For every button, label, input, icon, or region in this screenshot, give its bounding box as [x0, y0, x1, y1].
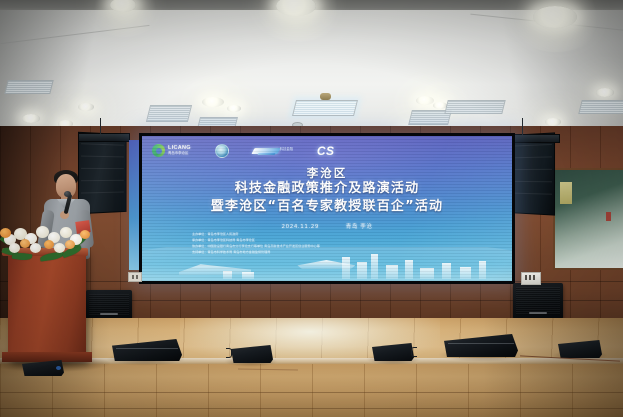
fern-leaf [12, 252, 33, 262]
ceiling-air-vent [578, 100, 623, 114]
event-title-block: 李沧区 科技金融政策推介及路演活动 暨李沧区“百名专家教授联百企”活动 [142, 166, 512, 216]
sponsor-logo-bar: LICANG 青岛市李沧区 科技金融 CS [152, 142, 502, 159]
line-array-mount-left [78, 133, 130, 142]
ceiling-air-vent [4, 80, 53, 94]
rose-orange [44, 240, 54, 249]
swoosh-logo-text: 科技金融 [280, 148, 293, 152]
rose-orange [65, 240, 75, 249]
lectern-base [2, 352, 92, 362]
skyline-building [405, 260, 413, 279]
monitor-indicator-light [56, 366, 61, 370]
fern-leaf [40, 251, 65, 261]
event-date: 2024.11.29 [282, 224, 320, 230]
monitor-handle [411, 347, 417, 357]
rose-orange [20, 239, 30, 248]
ceiling-shadow-left [0, 10, 120, 130]
ceiling-air-vent [146, 105, 192, 122]
ceiling-downlight-icon [533, 6, 577, 28]
smoke-detector-icon [320, 93, 331, 100]
rose-white [54, 243, 65, 253]
wall-notice-board [560, 182, 572, 204]
licang-logo: LICANG 青岛市李沧区 [152, 144, 191, 157]
skyline-building [460, 267, 471, 279]
licang-logo-text: LICANG 青岛市李沧区 [168, 145, 191, 155]
fire-alarm-icon [606, 212, 611, 221]
skyline-building [442, 263, 451, 279]
wooden-lectern [8, 252, 86, 362]
rose-orange [0, 228, 11, 238]
led-display-content: LICANG 青岛市李沧区 科技金融 CS 李沧区 科技金融政策推介及路演活动 [142, 136, 512, 281]
monitor-handle [226, 348, 232, 358]
power-strip[interactable] [521, 272, 541, 285]
ceiling-air-vent [444, 100, 505, 114]
event-title-line-3: 暨李沧区“百名专家教授联百企”活动 [142, 199, 512, 216]
ceiling-downlight-icon [78, 103, 94, 111]
emblem-logo [215, 144, 229, 158]
flower-arrangement [0, 222, 98, 264]
ceiling-air-vent [292, 100, 358, 116]
skyline-building [223, 271, 232, 279]
skyline-building [357, 262, 367, 279]
city-skyline-graphic [142, 247, 512, 281]
skyline-building [420, 268, 434, 279]
swoosh-bolt-secondary-icon [257, 153, 275, 155]
speaker-suspension-wire [100, 118, 101, 134]
skyline-building [386, 265, 398, 279]
emblem-circle-icon [215, 144, 229, 158]
ceiling-downlight-icon [22, 114, 40, 123]
skyline-building [342, 257, 350, 279]
led-display-screen: LICANG 青岛市李沧区 科技金融 CS 李沧区 科技金融政策推介及路演活动 [139, 133, 515, 284]
conference-hall-photo: LICANG 青岛市李沧区 科技金融 CS 李沧区 科技金融政策推介及路演活动 [0, 0, 623, 417]
screen-left-edge-bleed [129, 140, 139, 270]
subwoofer-badge [100, 313, 118, 315]
skyline-building [479, 261, 486, 279]
subwoofer-badge [529, 312, 547, 314]
ceiling-downlight-icon [227, 105, 241, 112]
microphone-head-icon [64, 191, 71, 197]
rose-orange [80, 230, 90, 239]
wall-outlet[interactable] [128, 272, 142, 282]
rose-white [9, 243, 20, 253]
ceiling-downlight-icon [202, 97, 224, 107]
skyline-building [371, 254, 378, 279]
ceiling-downlight-icon [545, 118, 561, 126]
event-location: 青岛 李沧 [346, 222, 373, 230]
licang-swirl-icon [152, 144, 165, 157]
cs-logo-text: CS [317, 144, 335, 158]
ceiling-downlight-icon [416, 96, 434, 105]
skyline-building [242, 272, 254, 279]
event-title-line-2: 科技金融政策推介及路演活动 [142, 181, 512, 198]
floor-shadow-right [483, 318, 623, 417]
ceiling-downlight-icon [596, 88, 614, 97]
event-title-line-1: 李沧区 [142, 166, 512, 180]
rose-white [30, 243, 41, 253]
subwoofer-grille [516, 287, 560, 315]
subwoofer-right [513, 283, 563, 319]
event-meta-line: 2024.11.29 青岛 李沧 [142, 222, 512, 230]
speaker-suspension-wire [522, 118, 523, 135]
swoosh-logo: 科技金融 [253, 145, 293, 157]
